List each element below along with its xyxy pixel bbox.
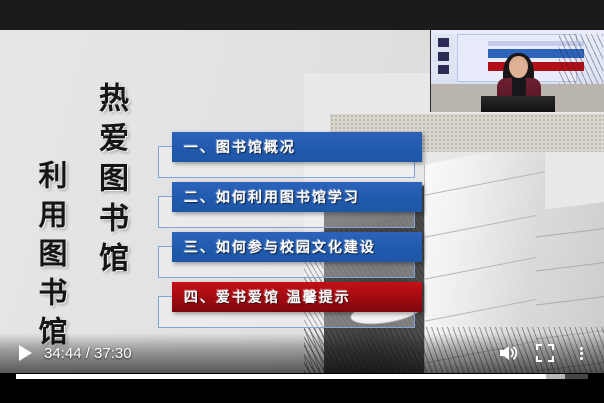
more-options-button[interactable] — [566, 338, 596, 368]
menu-item-label: 二、如何利用图书馆学习 — [172, 187, 360, 207]
fullscreen-icon — [536, 344, 554, 362]
menu-item-label: 一、图书馆概况 — [172, 137, 296, 157]
volume-icon — [498, 343, 520, 363]
menu-item-label: 三、如何参与校园文化建设 — [172, 237, 376, 257]
menu-item-label: 四、爱书爱馆 温馨提示 — [172, 287, 351, 307]
menu-item-bar: 一、图书馆概况 — [172, 132, 422, 162]
volume-button[interactable] — [494, 338, 524, 368]
letterbox-top — [0, 0, 604, 30]
presenter-camera-overlay — [430, 28, 604, 112]
presenter-face — [510, 60, 527, 78]
pip-podium — [481, 96, 555, 112]
controls-right-group[interactable] — [494, 338, 604, 368]
player-controls[interactable]: 34:44 / 37:30 — [0, 333, 604, 373]
time-display: 34:44 / 37:30 — [44, 345, 132, 362]
progress-fill — [16, 374, 546, 379]
video-player[interactable]: 热爱图书馆 利用图书馆 一、图书馆概况 二、如何利用图书馆学习 — [0, 0, 604, 403]
progress-bar[interactable] — [16, 374, 588, 379]
menu-item-bar-highlighted: 四、爱书爱馆 温馨提示 — [172, 282, 422, 312]
play-icon — [19, 345, 32, 361]
play-button[interactable] — [8, 336, 42, 370]
more-vertical-icon — [580, 345, 583, 362]
pip-left-banner — [433, 34, 455, 78]
menu-item-bar: 二、如何利用图书馆学习 — [172, 182, 422, 212]
fullscreen-button[interactable] — [530, 338, 560, 368]
menu-item-bar: 三、如何参与校园文化建设 — [172, 232, 422, 262]
